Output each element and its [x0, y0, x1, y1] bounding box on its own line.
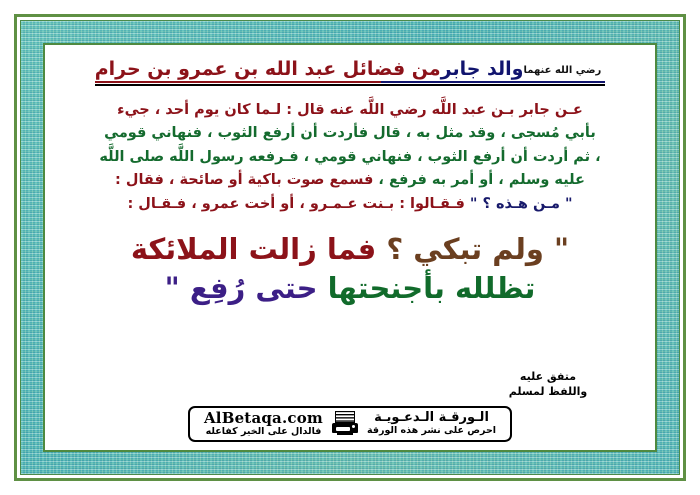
quote-line-1: " ولم تبكي ؟ فما زالت الملائكة [59, 230, 641, 269]
narration-line-5-navy: " مـن هـذه ؟ " [470, 196, 573, 212]
source-attribution: متفق عليه واللفظ لمسلم [473, 370, 623, 400]
narration-line-3: ، ثم أردت أن أرفع الثوب ، فنهاني قومي ، … [65, 146, 635, 169]
underline-red [95, 81, 381, 83]
footer-sheet-tagline: احرص على نشر هذه الورقة [367, 426, 496, 437]
narration-line-4-red: فسمع صوت باكية أو صائحة ، فقال : [115, 172, 373, 188]
printer-slot [336, 427, 350, 431]
narration-line-1-text: عـن جابر بـن عبد اللَّه رضي اللَّه عنه ق… [117, 102, 583, 118]
quote-line-2-green: تظلله بأجنحتها [328, 271, 536, 305]
underline-black [95, 84, 606, 86]
narration-line-4-green: عليه وسلم ، أو أمر به فرفع ، [378, 172, 585, 188]
headline-red-segment: من فضائل عبد الله بن عمرو بن حرام [95, 58, 441, 80]
teal-textured-band: رضي الله عنهماوالد جابرمن فضائل عبد الله… [20, 20, 680, 475]
footer-strip: الـورقـة الـدعـويـة احرص على نشر هذه الو… [59, 406, 641, 442]
quote-line-1-brown: ولم تبكي ؟ [386, 232, 544, 266]
quote-close-mark: " [165, 271, 180, 305]
content-card: رضي الله عنهماوالد جابرمن فضائل عبد الله… [43, 43, 657, 452]
narration-line-3-text: ، ثم أردت أن أرفع الثوب ، فنهاني قومي ، … [99, 149, 600, 165]
hadith-narration: عـن جابر بـن عبد اللَّه رضي اللَّه عنه ق… [65, 99, 635, 216]
headline-honorific: رضي الله عنهما [523, 65, 605, 76]
page-title: رضي الله عنهماوالد جابرمن فضائل عبد الله… [95, 59, 606, 89]
printer-paper [335, 411, 355, 423]
footer-site-tagline: فالدال على الخير كفاعله [204, 427, 323, 438]
outer-green-frame: رضي الله عنهماوالد جابرمن فضائل عبد الله… [14, 14, 686, 481]
frame-white-gap: رضي الله عنهماوالد جابرمن فضائل عبد الله… [17, 17, 683, 478]
underline-navy [381, 81, 606, 83]
footer-box: الـورقـة الـدعـويـة احرص على نشر هذه الو… [188, 406, 512, 442]
printer-icon [332, 411, 358, 437]
source-line-1: متفق عليه [473, 370, 623, 385]
printer-led [352, 425, 355, 428]
narration-line-2-text: بأبي مُسجى ، وقد مثل به ، قال فأردت أن أ… [104, 125, 596, 141]
quote-line-2-purple: حتى رُفِع [190, 271, 318, 305]
quote-line-1-red: فما زالت الملائكة [131, 232, 376, 266]
headline-navy-segment: والد جابر [441, 58, 524, 80]
quote-open-mark: " [554, 232, 569, 266]
highlighted-quote: " ولم تبكي ؟ فما زالت الملائكة تظلله بأج… [59, 230, 641, 308]
poster-page: رضي الله عنهماوالد جابرمن فضائل عبد الله… [0, 0, 700, 495]
headline-underline-colored [95, 81, 606, 83]
source-line-2: واللفظ لمسلم [473, 385, 623, 400]
printer-tray [337, 432, 353, 435]
footer-site-info[interactable]: AlBetaqa.com فالدال على الخير كفاعله [198, 410, 327, 438]
narration-line-2: بأبي مُسجى ، وقد مثل به ، قال فأردت أن أ… [65, 122, 635, 145]
quote-line-2: تظلله بأجنحتها حتى رُفِع " [59, 269, 641, 308]
narration-line-5-red: فـقـالوا : بـنت عـمـرو ، أو أخت عمرو ، ف… [127, 196, 464, 212]
headline-block: رضي الله عنهماوالد جابرمن فضائل عبد الله… [59, 59, 641, 89]
footer-site-name[interactable]: AlBetaqa.com [204, 410, 323, 427]
footer-sheet-title: الـورقـة الـدعـويـة [367, 411, 496, 426]
narration-line-5: " مـن هـذه ؟ " فـقـالوا : بـنت عـمـرو ، … [65, 193, 635, 216]
footer-sheet-info: الـورقـة الـدعـويـة احرص على نشر هذه الو… [363, 411, 502, 437]
narration-line-1: عـن جابر بـن عبد اللَّه رضي اللَّه عنه ق… [65, 99, 635, 122]
narration-line-4: عليه وسلم ، أو أمر به فرفع ، فسمع صوت با… [65, 169, 635, 192]
